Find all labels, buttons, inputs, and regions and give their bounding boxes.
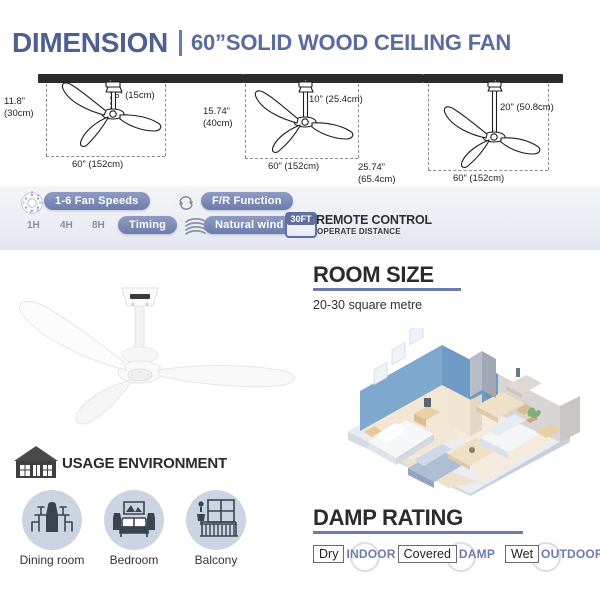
fan2-height-label: 15.74” (40cm) <box>203 106 233 130</box>
damp-word-damp: DAMP <box>457 547 497 561</box>
damp-word-indoor: INDOOR <box>344 547 397 561</box>
timer-option-8h[interactable]: 8H <box>92 220 105 231</box>
room-size-title: ROOM SIZE <box>313 262 434 288</box>
fan3-height-label: 25.74” (65.4cm) <box>358 162 395 186</box>
remote-control-title: REMOTE CONTROL <box>316 213 432 227</box>
fan-diagram-2 <box>243 78 365 160</box>
fan1-height-label: 11.8” (30cm) <box>4 96 34 120</box>
usage-label-dining: Dining room <box>7 553 97 567</box>
dimension-panel: 11.8” (30cm) 6” (15cm) 60” (152cm) 15.74… <box>0 68 600 186</box>
timer-option-4h[interactable]: 4H <box>60 220 73 231</box>
fan3-span-label: 60” (152cm) <box>453 173 504 185</box>
badge-natural-wind[interactable]: Natural wind <box>204 216 294 234</box>
remote-control-subtitle: OPERATE DISTANCE <box>317 227 401 236</box>
usage-label-bedroom: Bedroom <box>89 553 179 567</box>
product-photo-ceiling-fan <box>0 258 312 428</box>
damp-rating-title: DAMP RATING <box>313 505 463 531</box>
fan2-height-l1: 15.74” <box>203 106 230 117</box>
room-size-rule <box>313 288 461 291</box>
fan3-height-l1: 25.74” <box>358 162 385 173</box>
timer-option-1h[interactable]: 1H <box>27 220 40 231</box>
usage-label-balcony: Balcony <box>171 553 261 567</box>
remote-distance-chip: 30FT <box>285 212 317 238</box>
damp-box-wet[interactable]: Wet <box>505 545 539 563</box>
page-header: DIMENSION 60”SOLID WOOD CEILING FAN <box>0 22 600 64</box>
badge-fr-function[interactable]: F/R Function <box>201 192 293 210</box>
damp-box-dry[interactable]: Dry <box>313 545 344 563</box>
fan3-height-l2: (65.4cm) <box>358 174 395 185</box>
room-illustration-isometric <box>330 328 590 496</box>
fan1-height-l1: 11.8” <box>4 96 25 107</box>
fan-diagram-1 <box>44 78 169 158</box>
usage-environment-title: USAGE ENVIRONMENT <box>62 455 227 472</box>
product-name: 60”SOLID WOOD CEILING FAN <box>191 30 511 56</box>
damp-word-outdoor: OUTDOOR <box>539 547 600 561</box>
fan-diagram-3 <box>426 78 550 172</box>
remote-distance-value: 30FT <box>287 213 315 225</box>
dining-table-icon <box>29 497 75 543</box>
fan1-span-label: 60” (152cm) <box>72 159 123 171</box>
fan2-span-label: 60” (152cm) <box>268 161 319 173</box>
fan1-height-l2: (30cm) <box>4 108 34 119</box>
house-icon <box>12 444 60 480</box>
damp-rating-rule <box>313 531 523 534</box>
badge-timing[interactable]: Timing <box>118 216 177 234</box>
page-title: DIMENSION <box>12 27 168 59</box>
badge-fan-speeds[interactable]: 1-6 Fan Speeds <box>44 192 150 210</box>
header-divider <box>179 30 182 56</box>
room-size-value: 20-30 square metre <box>313 298 422 312</box>
fan-speed-dial-icon: 34 56 12 <box>17 188 47 218</box>
infographic-page: DIMENSION 60”SOLID WOOD CEILING FAN 11.8… <box>0 0 600 600</box>
forward-reverse-icon <box>172 189 200 217</box>
balcony-railing-icon <box>192 496 240 544</box>
feature-strip: 34 56 12 1-6 Fan Speeds F/R Function 1H … <box>0 186 600 250</box>
damp-box-covered[interactable]: Covered <box>398 545 457 563</box>
damp-rating-scale: Dry INDOOR Covered DAMP Wet OUTDOOR <box>313 545 600 563</box>
fan2-height-l2: (40cm) <box>203 118 233 129</box>
bed-icon <box>110 496 158 544</box>
